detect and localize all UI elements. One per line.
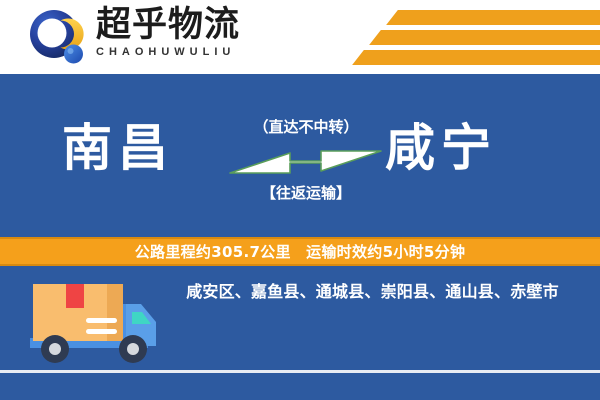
round-trip-note: 【往返运输】 — [240, 182, 372, 203]
banner-header: 超乎物流 CHAOHUWULIU — [0, 0, 600, 74]
orange-stripe-bottom — [352, 50, 600, 65]
distance-and-duration-text: 公路里程约305.7公里 运输时效约5小时5分钟 — [135, 241, 466, 262]
route-info-bar: 公路里程约305.7公里 运输时效约5小时5分钟 — [0, 237, 600, 266]
destination-area-list: 咸安区、嘉鱼县、通城县、崇阳县、通山县、赤壁市 — [160, 278, 585, 302]
logistics-route-banner: 超乎物流 CHAOHUWULIU 南昌 （直达不中转） 【往返运输】 咸宁 公路… — [0, 0, 600, 400]
circle-crescent-logo-icon — [28, 9, 86, 67]
route-section: 南昌 （直达不中转） 【往返运输】 咸宁 — [0, 74, 600, 237]
destination-city: 咸宁 — [385, 120, 497, 176]
double-headed-arrow-icon — [228, 144, 383, 179]
brand-block: 超乎物流 CHAOHUWULIU — [96, 6, 276, 58]
orange-stripe-middle — [369, 30, 600, 45]
brand-pinyin: CHAOHUWULIU — [96, 46, 276, 58]
delivery-truck-icon — [14, 276, 174, 368]
bottom-divider — [0, 370, 600, 373]
direct-service-note: （直达不中转） — [240, 116, 372, 137]
orange-diagonal-stripes-icon — [386, 10, 600, 25]
origin-city: 南昌 — [62, 120, 174, 176]
brand-name: 超乎物流 — [96, 6, 276, 44]
